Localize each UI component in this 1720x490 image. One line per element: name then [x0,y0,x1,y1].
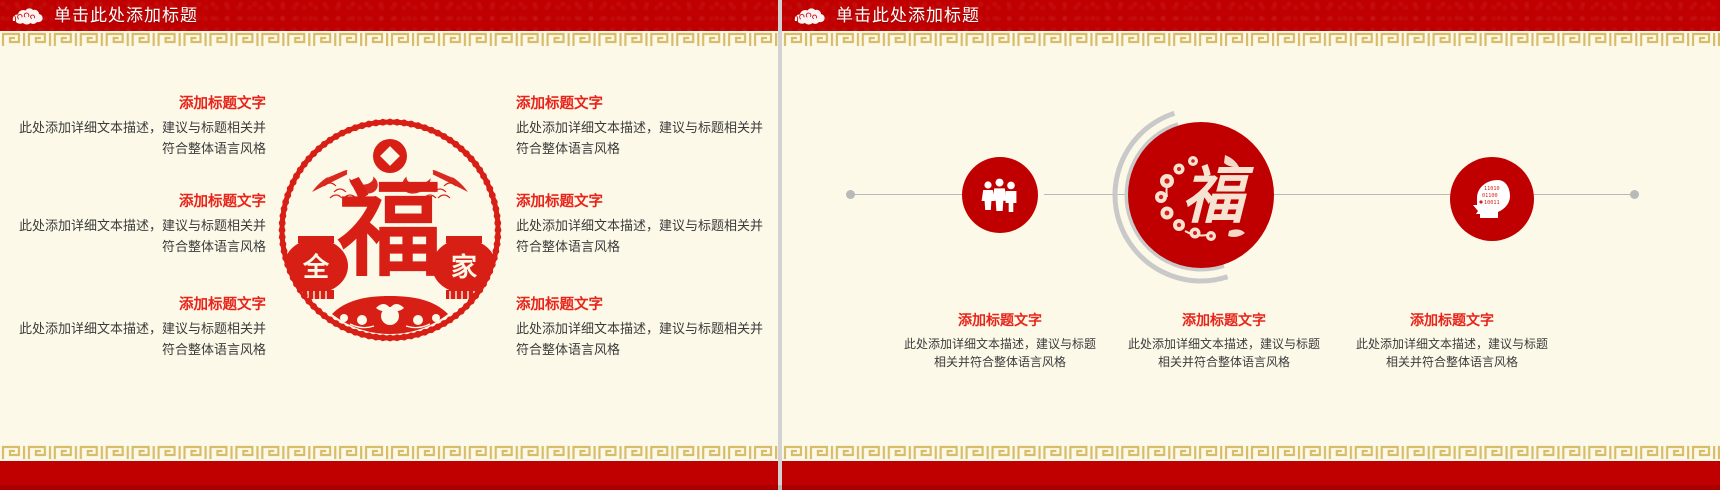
meander-border-top-1 [0,31,778,48]
node-caption-2: 添加标题文字 此处添加详细文本描述，建议与标题相关并符合整体语言风格 [1126,312,1322,371]
block-title: 添加标题文字 [10,194,266,211]
slide-2-header-bar: 单击此处添加标题 [782,0,1720,31]
meander-border-bottom-2 [782,444,1720,461]
timeline-node-3[interactable]: 11010 01100 10011 [1450,157,1534,241]
presentation-slide-pair: 单击此处添加标题 添加标题文字 此处添加详细文本描述，建 [0,0,1720,490]
slide-1: 单击此处添加标题 添加标题文字 此处添加详细文本描述，建 [0,0,778,490]
timeline-node-1[interactable] [962,157,1038,233]
caption-body: 此处添加详细文本描述，建议与标题相关并符合整体语言风格 [1126,335,1322,371]
caption-title: 添加标题文字 [1354,312,1550,329]
text-block-left-3: 添加标题文字 此处添加详细文本描述，建议与标题相关并符合整体语言风格 [10,297,266,360]
meander-border-bottom-1 [0,444,778,461]
family-group-icon [980,178,1020,212]
auspicious-cloud-icon [10,6,44,26]
papercut-fu-medallion: 全 家 [272,108,508,352]
svg-text:01100: 01100 [1482,193,1498,199]
text-block-right-2: 添加标题文字 此处添加详细文本描述，建议与标题相关并符合整体语言风格 [516,194,772,257]
block-title: 添加标题文字 [10,96,266,113]
text-block-right-1: 添加标题文字 此处添加详细文本描述，建议与标题相关并符合整体语言风格 [516,96,772,159]
head-brain-binary-icon: 11010 01100 10011 [1469,178,1515,220]
block-body: 此处添加详细文本描述，建议与标题相关并符合整体语言风格 [516,319,772,359]
timeline-segment-4 [1534,194,1634,195]
fu-character: 福 [1182,159,1254,232]
block-body: 此处添加详细文本描述，建议与标题相关并符合整体语言风格 [516,216,772,256]
lantern-char-left: 全 [302,252,330,283]
text-block-left-1: 添加标题文字 此处添加详细文本描述，建议与标题相关并符合整体语言风格 [10,96,266,159]
slide-2-title: 单击此处添加标题 [836,7,980,24]
caption-body: 此处添加详细文本描述，建议与标题相关并符合整体语言风格 [902,335,1098,371]
timeline-node-2[interactable]: 福 [1128,122,1274,268]
papercut-fu-icon: 福 [1141,135,1261,255]
node-caption-3: 添加标题文字 此处添加详细文本描述，建议与标题相关并符合整体语言风格 [1354,312,1550,371]
timeline-segment-1 [854,194,962,195]
node-caption-1: 添加标题文字 此处添加详细文本描述，建议与标题相关并符合整体语言风格 [902,312,1098,371]
block-body: 此处添加详细文本描述，建议与标题相关并符合整体语言风格 [10,216,266,256]
caption-body: 此处添加详细文本描述，建议与标题相关并符合整体语言风格 [1354,335,1550,371]
block-title: 添加标题文字 [516,96,772,113]
timeline-end-dot-right [1630,190,1639,199]
auspicious-cloud-icon [792,6,826,26]
block-body: 此处添加详细文本描述，建议与标题相关并符合整体语言风格 [10,319,266,359]
stage-bottom-shadow [0,485,1720,490]
meander-border-top-2 [782,31,1720,48]
svg-text:11010: 11010 [1484,186,1500,192]
caption-title: 添加标题文字 [902,312,1098,329]
svg-text:10011: 10011 [1484,200,1500,206]
text-block-left-2: 添加标题文字 此处添加详细文本描述，建议与标题相关并符合整体语言风格 [10,194,266,257]
block-title: 添加标题文字 [516,194,772,211]
slide-1-header-bar: 单击此处添加标题 [0,0,778,31]
fu-character: 福 [337,169,442,291]
block-title: 添加标题文字 [516,297,772,314]
lantern-char-right: 家 [451,252,477,283]
caption-title: 添加标题文字 [1126,312,1322,329]
block-body: 此处添加详细文本描述，建议与标题相关并符合整体语言风格 [10,118,266,158]
block-body: 此处添加详细文本描述，建议与标题相关并符合整体语言风格 [516,118,772,158]
text-block-right-3: 添加标题文字 此处添加详细文本描述，建议与标题相关并符合整体语言风格 [516,297,772,360]
timeline-segment-3 [1272,194,1450,195]
slide-1-title: 单击此处添加标题 [54,7,198,24]
slide-2: 单击此处添加标题 [782,0,1720,490]
block-title: 添加标题文字 [10,297,266,314]
